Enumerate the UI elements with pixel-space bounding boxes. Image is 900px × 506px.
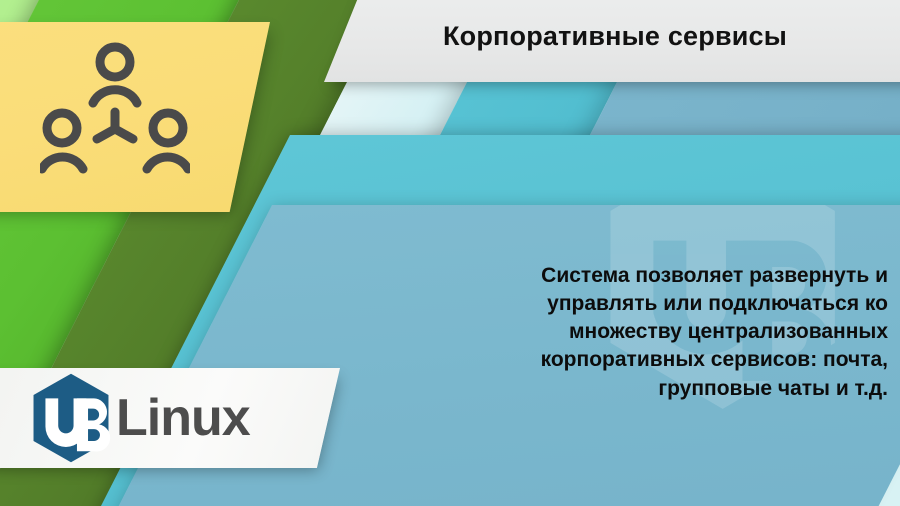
page-title: Корпоративные сервисы bbox=[330, 0, 900, 82]
ub-hexagon-icon bbox=[28, 372, 114, 464]
slide-canvas: Корпоративные сервисы Система позволяет … bbox=[0, 0, 900, 506]
group-people-icon bbox=[40, 40, 190, 180]
logo-wordmark: Linux bbox=[116, 392, 250, 444]
body-paragraph: Система позволяет развернуть и управлять… bbox=[470, 262, 888, 403]
brand-logo: Linux bbox=[28, 372, 328, 464]
